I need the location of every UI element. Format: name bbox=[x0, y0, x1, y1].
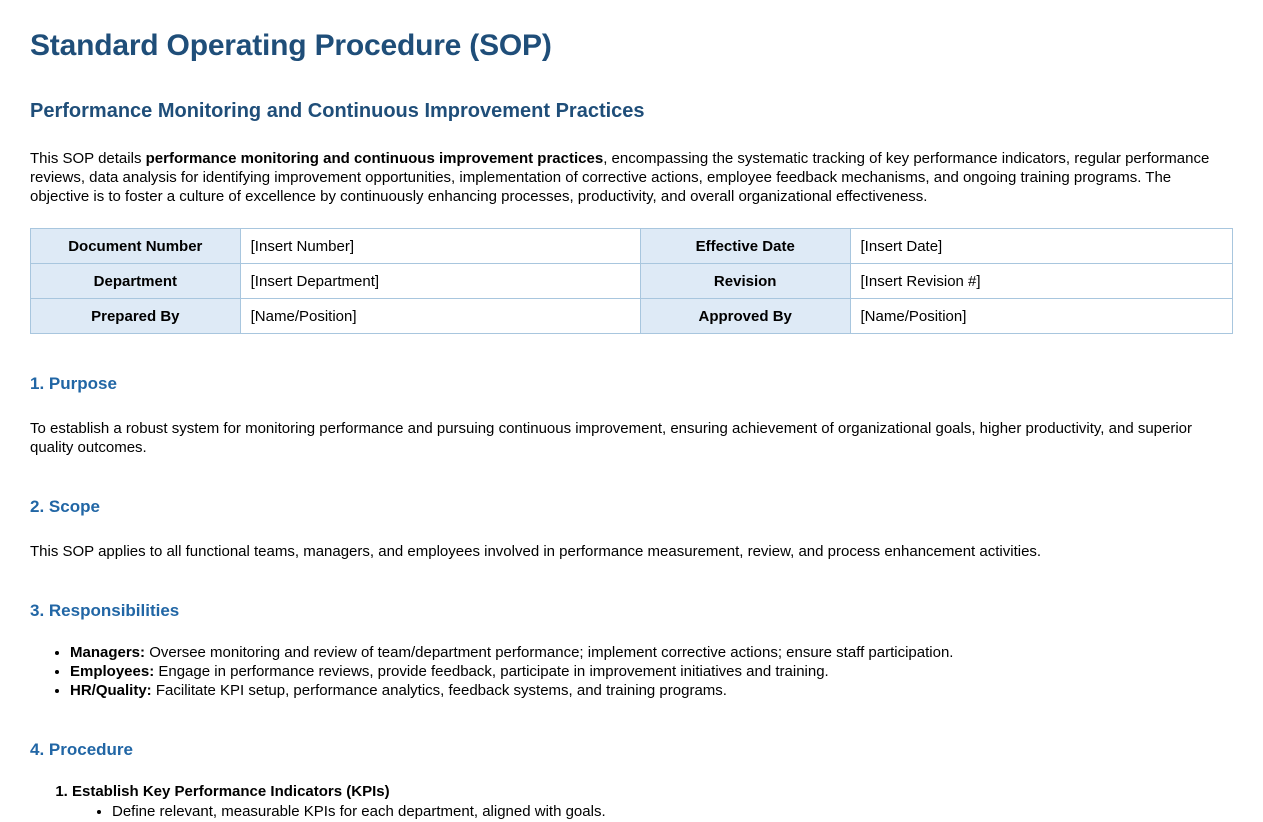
value-revision[interactable]: [Insert Revision #] bbox=[850, 264, 1232, 299]
document-subtitle: Performance Monitoring and Continuous Im… bbox=[30, 99, 1233, 123]
table-body: Document Number [Insert Number] Effectiv… bbox=[31, 229, 1233, 334]
procedure-substep-list: Define relevant, measurable KPIs for eac… bbox=[72, 802, 1233, 822]
section-heading-procedure: 4. Procedure bbox=[30, 740, 1233, 760]
intro-paragraph: This SOP details performance monitoring … bbox=[30, 149, 1233, 206]
section-body-scope: This SOP applies to all functional teams… bbox=[30, 542, 1233, 561]
responsibilities-list: Managers: Oversee monitoring and review … bbox=[30, 643, 1233, 700]
section-heading-responsibilities: 3. Responsibilities bbox=[30, 601, 1233, 621]
table-row: Prepared By [Name/Position] Approved By … bbox=[31, 299, 1233, 334]
procedure-step-title: Establish Key Performance Indicators (KP… bbox=[72, 783, 390, 800]
label-revision: Revision bbox=[640, 264, 850, 299]
value-effective-date[interactable]: [Insert Date] bbox=[850, 229, 1232, 264]
table-row: Department [Insert Department] Revision … bbox=[31, 264, 1233, 299]
responsibility-role: HR/Quality: bbox=[70, 682, 152, 699]
value-document-number[interactable]: [Insert Number] bbox=[240, 229, 640, 264]
responsibility-text: Facilitate KPI setup, performance analyt… bbox=[152, 682, 727, 699]
responsibility-role: Managers: bbox=[70, 644, 145, 661]
value-prepared-by[interactable]: [Name/Position] bbox=[240, 299, 640, 334]
procedure-list: Establish Key Performance Indicators (KP… bbox=[30, 782, 1233, 822]
table-row: Document Number [Insert Number] Effectiv… bbox=[31, 229, 1233, 264]
list-item: Managers: Oversee monitoring and review … bbox=[70, 643, 1233, 662]
responsibility-text: Oversee monitoring and review of team/de… bbox=[145, 644, 953, 661]
label-approved-by: Approved By bbox=[640, 299, 850, 334]
page-title: Standard Operating Procedure (SOP) bbox=[30, 28, 1233, 64]
label-effective-date: Effective Date bbox=[640, 229, 850, 264]
document-metadata-table: Document Number [Insert Number] Effectiv… bbox=[30, 228, 1233, 334]
section-heading-purpose: 1. Purpose bbox=[30, 374, 1233, 394]
value-approved-by[interactable]: [Name/Position] bbox=[850, 299, 1232, 334]
list-item: Define relevant, measurable KPIs for eac… bbox=[112, 802, 1233, 822]
responsibility-text: Engage in performance reviews, provide f… bbox=[154, 663, 829, 680]
list-item: Employees: Engage in performance reviews… bbox=[70, 662, 1233, 681]
intro-lead: This SOP details bbox=[30, 150, 146, 167]
value-department[interactable]: [Insert Department] bbox=[240, 264, 640, 299]
section-body-purpose: To establish a robust system for monitor… bbox=[30, 419, 1233, 457]
section-heading-scope: 2. Scope bbox=[30, 497, 1233, 517]
label-document-number: Document Number bbox=[31, 229, 241, 264]
list-item: Establish Key Performance Indicators (KP… bbox=[72, 782, 1233, 822]
document-page: Standard Operating Procedure (SOP) Perfo… bbox=[0, 0, 1263, 822]
intro-bold-phrase: performance monitoring and continuous im… bbox=[146, 150, 604, 167]
list-item: HR/Quality: Facilitate KPI setup, perfor… bbox=[70, 681, 1233, 700]
label-prepared-by: Prepared By bbox=[31, 299, 241, 334]
responsibility-role: Employees: bbox=[70, 663, 154, 680]
label-department: Department bbox=[31, 264, 241, 299]
